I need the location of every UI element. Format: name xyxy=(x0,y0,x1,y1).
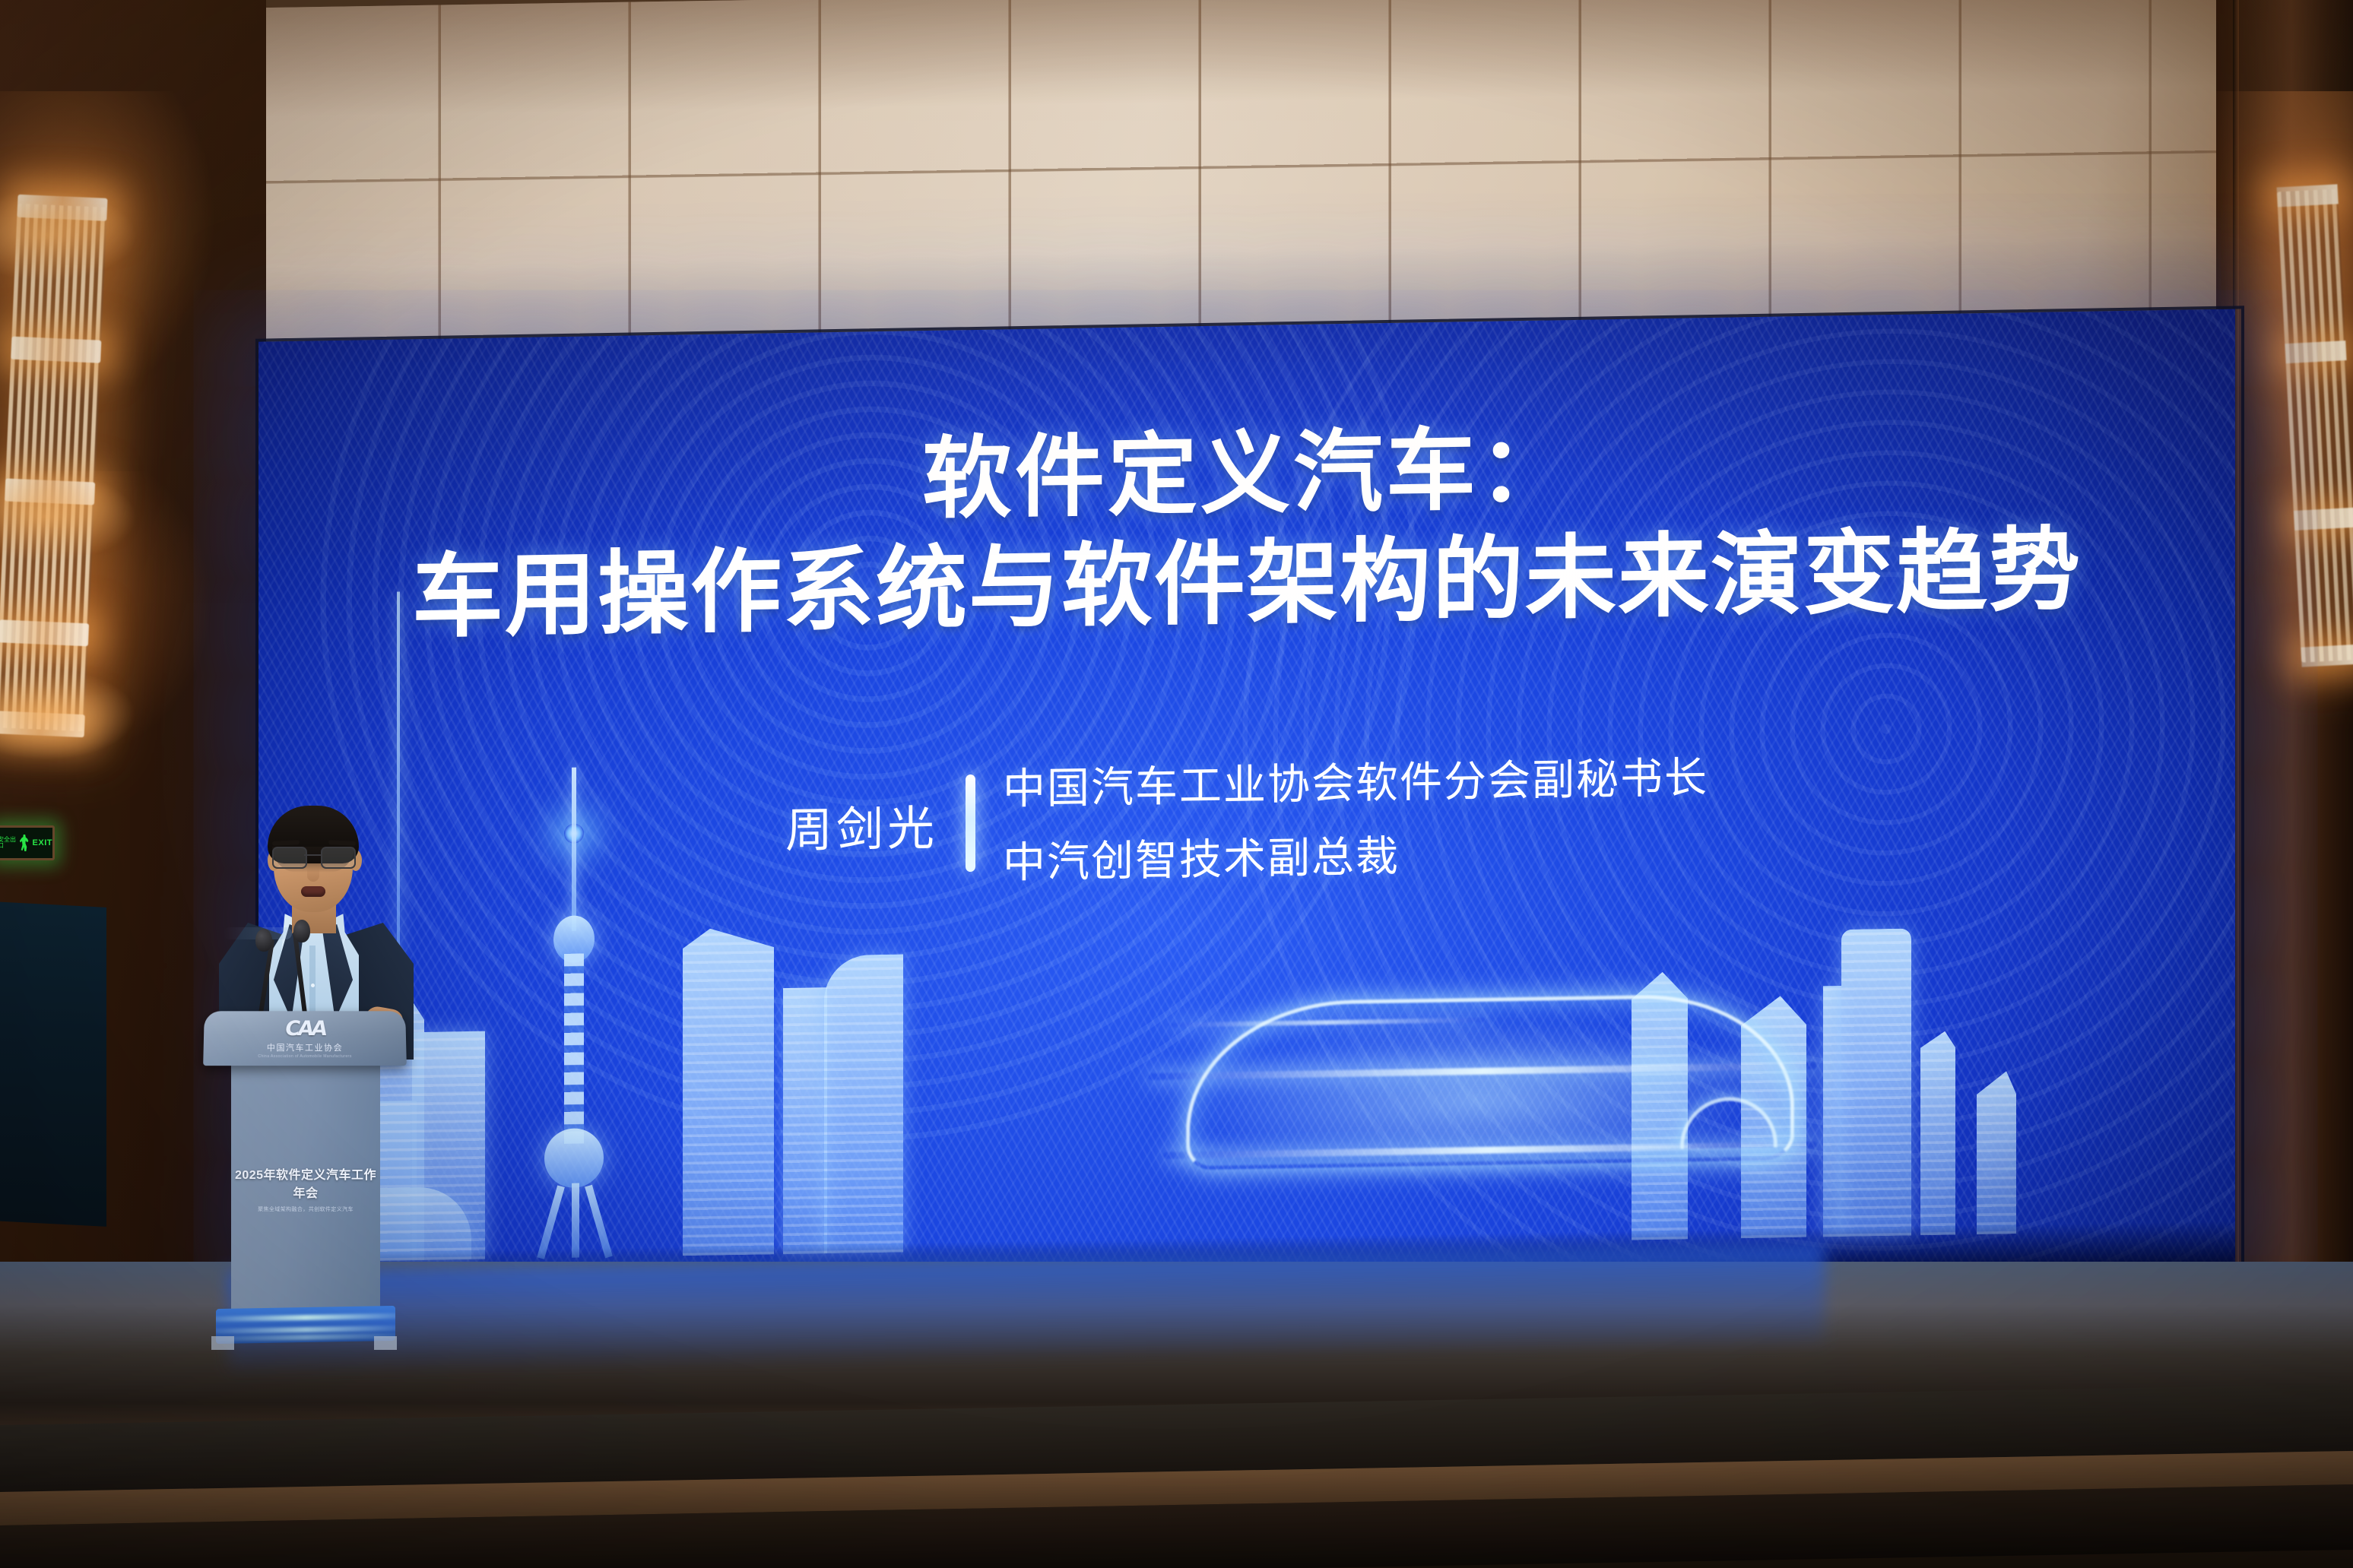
microphone-icon xyxy=(255,929,272,952)
podium-light-streak xyxy=(216,1313,395,1323)
sconce-segment xyxy=(0,619,89,646)
conference-subtitle: 聚焦全域架构融合，共创软件定义汽车 xyxy=(231,1205,380,1213)
podium-body: 2025年软件定义汽车工作年会 聚焦全域架构融合，共创软件定义汽车 xyxy=(231,1064,380,1315)
sconce-hotspot xyxy=(0,190,137,281)
exit-sign-label-cn: 安全出口 xyxy=(0,837,16,849)
podium-lectern-top: CAA 中国汽车工业协会 China Association of Automo… xyxy=(203,1011,407,1066)
sconce-segment xyxy=(2285,341,2346,363)
mouth xyxy=(301,886,325,897)
speaker-title-1: 中国汽车工业协会软件分会副秘书长 xyxy=(1003,743,1708,816)
glasses-bridge xyxy=(304,854,322,856)
side-doorway xyxy=(0,901,106,1227)
podium-foot xyxy=(211,1336,234,1350)
shirt-button xyxy=(311,984,315,987)
speaker-title-list: 中国汽车工业协会软件分会副秘书长 中汽创智技术副总裁 xyxy=(1003,743,1708,890)
conference-hall-photo: 安全出口 EXIT xyxy=(0,0,2353,1568)
glasses-icon xyxy=(271,847,356,866)
podium-base xyxy=(216,1306,395,1344)
podium-light-streak xyxy=(216,1333,395,1342)
glasses-lens xyxy=(272,847,307,869)
sconce-segment xyxy=(11,337,101,363)
nose xyxy=(307,865,319,882)
slide-title: 软件定义汽车： 车用操作系统与软件架构的未来演变趋势 xyxy=(258,404,2235,654)
conference-title: 2025年软件定义汽车工作年会 xyxy=(231,1164,380,1201)
glasses-lens xyxy=(321,847,356,869)
sconce-segment xyxy=(2277,184,2339,207)
sconce-hotspot xyxy=(0,471,137,562)
caam-logo-icon: CAA xyxy=(283,1018,326,1039)
speaker-name: 周剑光 xyxy=(785,790,938,860)
org-name-cn: 中国汽车工业协会 xyxy=(204,1041,407,1053)
running-person-icon xyxy=(18,835,30,851)
led-presentation-screen: 软件定义汽车： 车用操作系统与软件架构的未来演变趋势 周剑光 中国汽车工业协会软… xyxy=(258,309,2235,1307)
microphone-icon xyxy=(293,920,310,942)
emergency-exit-sign: 安全出口 EXIT xyxy=(0,825,55,860)
podium: 2025年软件定义汽车工作年会 聚焦全域架构融合，共创软件定义汽车 CAA 中国… xyxy=(210,1011,400,1353)
podium-conference-text: 2025年软件定义汽车工作年会 聚焦全域架构融合，共创软件定义汽车 xyxy=(231,1164,380,1213)
speaker-title-2: 中汽创智技术副总裁 xyxy=(1003,817,1708,890)
sconce-segment xyxy=(2301,645,2353,667)
vertical-divider xyxy=(966,774,975,872)
sconce-segment xyxy=(2294,508,2353,531)
org-name-en: China Association of Automobile Manufact… xyxy=(203,1054,406,1059)
sconce-hotspot xyxy=(0,669,137,760)
exit-sign-label-en: EXIT xyxy=(33,839,52,847)
podium-foot xyxy=(374,1336,397,1350)
podium-org-logo: CAA 中国汽车工业协会 China Association of Automo… xyxy=(203,1018,406,1059)
